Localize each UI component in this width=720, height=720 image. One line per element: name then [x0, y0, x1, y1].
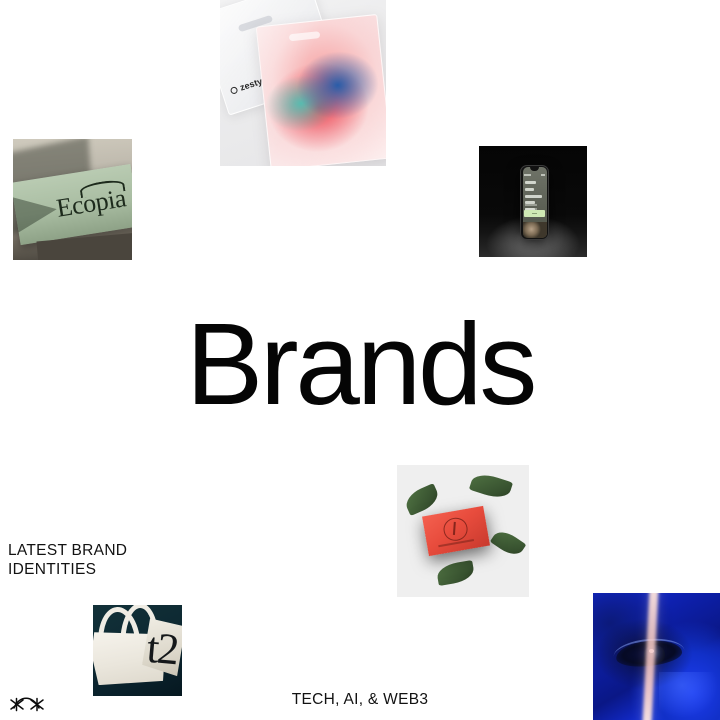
phone-logo-placeholder [524, 174, 531, 176]
phone-screen [523, 167, 547, 237]
monogram-icon [442, 516, 470, 542]
zesty-packaging-image[interactable]: zesty ™ [220, 0, 386, 166]
latest-brand-identities-label: LATEST BRAND IDENTITIES [8, 542, 127, 579]
brands-page: zesty ™ Ecopia [0, 0, 720, 720]
zesty-wordmark: zesty [239, 76, 264, 93]
tote-bag-image[interactable]: t2 [93, 605, 182, 696]
zesty-ring-icon [230, 86, 239, 95]
phone-status-bar [524, 174, 544, 176]
page-title: Brands [0, 306, 720, 422]
phone-nav-item [525, 181, 536, 184]
zesty-gradient-pouch [256, 14, 386, 166]
ecopia-triangle-shape [13, 181, 61, 244]
phone-mockup-image[interactable] [479, 146, 587, 257]
tech-ai-web3-label: TECH, AI, & WEB3 [292, 691, 429, 710]
eye-skin-highlight [659, 672, 717, 718]
phone-nav-item [525, 188, 534, 191]
blue-eye-image[interactable] [593, 593, 720, 720]
phone-nav-item [525, 195, 542, 198]
ecopia-card-image[interactable]: Ecopia [13, 139, 132, 260]
phone-subtext-line [525, 204, 537, 206]
tote-wordmark: t2 [145, 626, 179, 672]
card-text-line [438, 539, 474, 547]
ecopia-wordmark: Ecopia [55, 184, 128, 223]
phone-device [520, 165, 549, 240]
studio-logo-icon[interactable] [8, 689, 48, 713]
phone-cta-button [524, 210, 545, 216]
zesty-sheen [257, 15, 386, 166]
light-streak [643, 593, 659, 720]
phone-hero-photo [523, 222, 547, 237]
phone-notch [530, 167, 540, 171]
phone-menu-icon [541, 174, 544, 176]
floral-card-image[interactable] [397, 465, 529, 597]
